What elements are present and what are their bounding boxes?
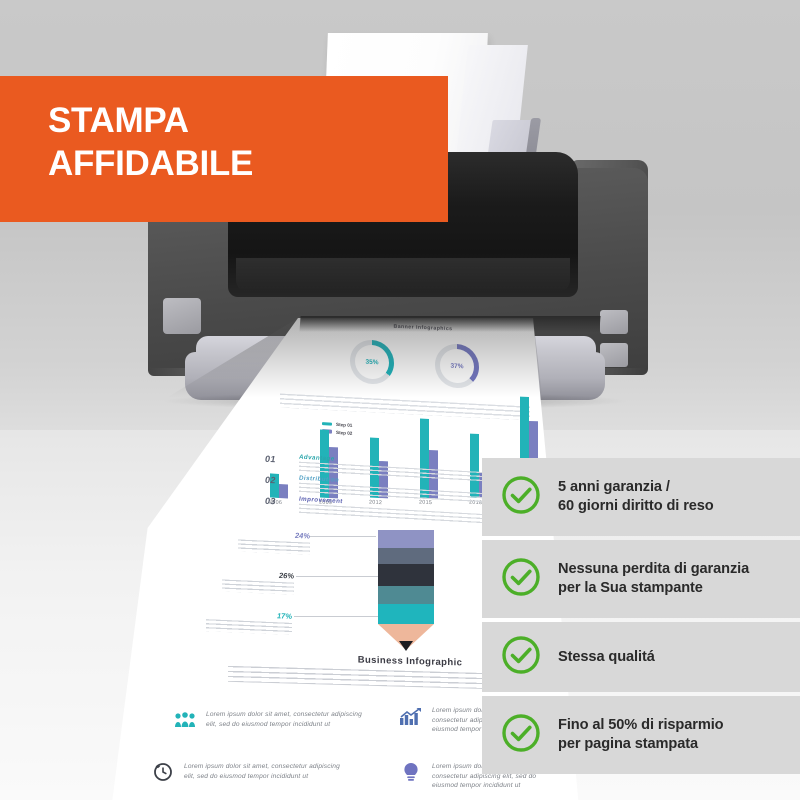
feature-line-1: 5 anni garanzia / [558,479,670,495]
pencil-infographic [378,530,434,650]
headline-line-1: STAMPA [48,101,189,140]
feature-box-quality[interactable]: Stessa qualitá [482,622,800,692]
pencil-segment-5 [378,604,434,624]
printer-button-right-1[interactable] [600,310,628,334]
feature-box-quality-text: Stessa qualitá [558,648,655,667]
headline-text: STAMPA AFFIDABILE [48,100,253,185]
pencil-segment-3 [378,564,434,586]
infographic-footer-title: Business Infographic [310,653,510,670]
people-icon [172,710,198,730]
lightbulb-icon [398,762,424,782]
check-circle-icon [500,634,542,681]
feature-line-2: per la Sua stampante [558,580,703,596]
sheet-curl-edge [299,316,600,332]
headline-banner: STAMPA AFFIDABILE [0,76,448,222]
leader-line-1 [310,536,376,537]
doc-feature-people: Lorem ipsum dolor sit amet, consectetur … [172,710,362,730]
check-circle-icon [500,712,542,759]
pencil-stat-1-value: 24% [238,528,310,540]
check-circle-icon [500,474,542,521]
pencil-stat-2-note [222,579,294,594]
pencil-segment-1 [378,530,434,548]
feature-box-warranty[interactable]: 5 anni garanzia / 60 giorni diritto di r… [482,458,800,536]
growth-chart-icon [398,706,424,726]
feature-box-warranty-text: 5 anni garanzia / 60 giorni diritto di r… [558,478,714,515]
feature-box-savings-text: Fino al 50% di risparmio per pagina stam… [558,716,723,753]
list-item-text [299,504,499,525]
feature-box-savings[interactable]: Fino al 50% di risparmio per pagina stam… [482,696,800,774]
feature-line-2: 60 giorni diritto di reso [558,498,714,514]
feature-line-1: Fino al 50% di risparmio [558,717,723,733]
pencil-stat-3: 17% [206,608,292,635]
doc-feature-clock-text: Lorem ipsum dolor sit amet, consectetur … [184,762,350,781]
pencil-segment-2 [378,548,434,564]
check-circle-icon [500,556,542,603]
pencil-stat-1-note [238,539,310,554]
poster-canvas: Banner Infographics 35% 37% Step 01 Step… [0,0,800,800]
feature-box-no-warranty-loss[interactable]: Nessuna perdita di garanzia per la Sua s… [482,540,800,618]
pencil-stat-1: 24% [238,528,310,554]
pencil-stat-2-value: 26% [222,568,294,580]
clock-icon [150,762,176,782]
leader-line-3 [294,616,378,617]
list-item-number: 03 [265,496,276,507]
pencil-stat-2: 26% [222,568,294,594]
list-item-number: 02 [265,475,276,486]
leader-line-2 [296,576,378,577]
pencil-stat-3-note [206,619,292,635]
headline-line-2: AFFIDABILE [48,144,253,183]
feature-line-1: Nessuna perdita di garanzia [558,561,749,577]
pencil-segment-4 [378,586,434,604]
printer-top-gloss [236,258,570,292]
doc-feature-people-text: Lorem ipsum dolor sit amet, consectetur … [206,710,362,729]
feature-box-no-warranty-loss-text: Nessuna perdita di garanzia per la Sua s… [558,560,749,597]
pencil-lead [399,641,413,651]
doc-feature-clock: Lorem ipsum dolor sit amet, consectetur … [150,762,350,782]
feature-line-2: per pagina stampata [558,736,698,752]
list-item-number: 01 [265,454,276,465]
